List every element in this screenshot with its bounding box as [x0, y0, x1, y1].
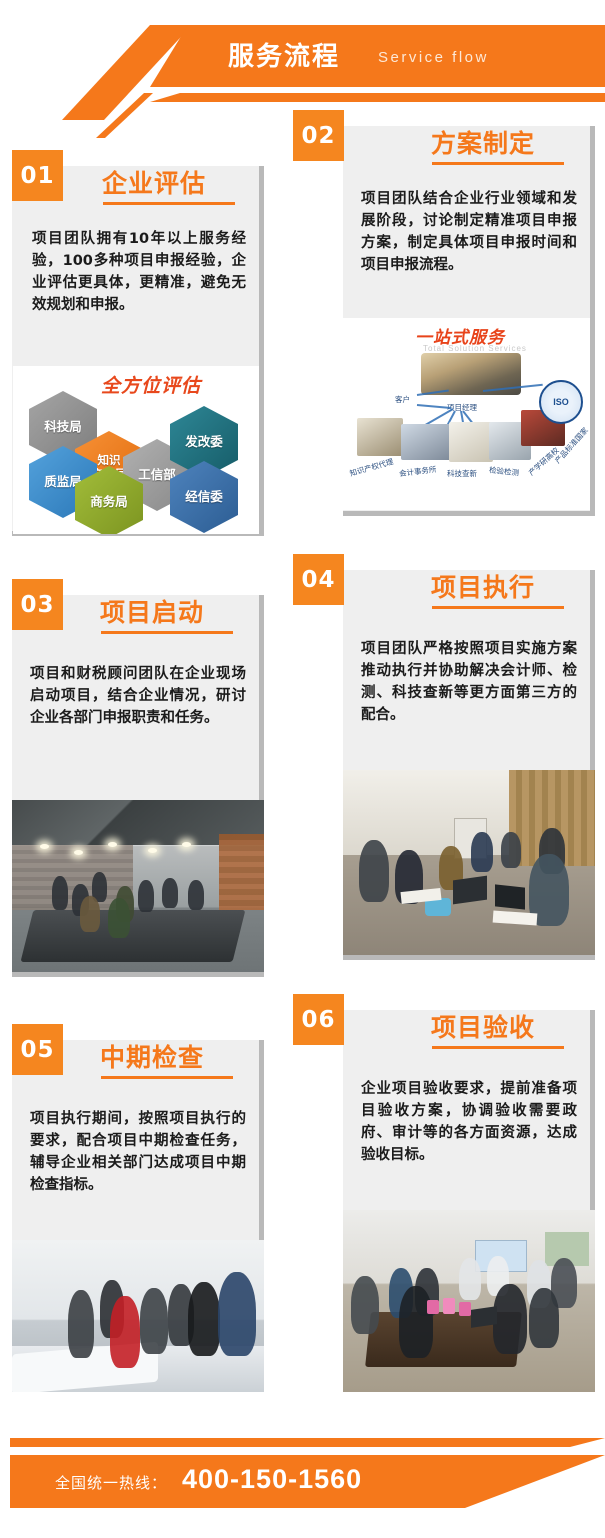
card-title-04: 项目执行	[431, 568, 535, 604]
card-number-badge-04: 04	[293, 554, 344, 605]
service-diagram-subtitle: Total Solution Services	[423, 344, 527, 353]
process-card-02[interactable]: 02 方案制定 项目团队结合企业行业领域和发展阶段，讨论制定精准项目申报方案，制…	[343, 126, 595, 516]
card-body-01: 项目团队拥有10年以上服务经验，100多种项目申报经验，企业评估更具体，更精准，…	[32, 228, 246, 316]
process-card-06[interactable]: 06 项目验收 企业项目验收要求，提前准备项目验收方案，协调验收需要政府、审计等…	[343, 1010, 595, 1392]
card-number-badge-01: 01	[12, 150, 63, 201]
process-card-01[interactable]: 01 企业评估 项目团队拥有10年以上服务经验，100多种项目申报经验，企业评估…	[12, 166, 264, 536]
card-title-rule	[432, 162, 564, 165]
service-node-label-0: 知识产权代理	[348, 456, 394, 479]
service-node-label-2: 科技查新	[447, 468, 477, 479]
service-node-label-1: 会计事务所	[398, 464, 437, 479]
card-number-badge-05: 05	[12, 1024, 63, 1075]
card-title-rule	[432, 1046, 564, 1049]
footer-rule	[10, 1438, 605, 1447]
service-thumb-search	[449, 422, 493, 462]
service-thumb-acct	[401, 424, 451, 460]
assessment-hex-diagram: 全方位评估 科技局 知识产权局 质监局 工信部 商务局 发改委 经信委	[13, 366, 259, 534]
service-iso-seal: ISO	[539, 380, 583, 424]
card-body-05: 项目执行期间，按照项目执行的要求，配合项目中期检查任务，辅导企业相关部门达成项目…	[30, 1108, 246, 1196]
process-card-03[interactable]: 03 项目启动 项目和财税顾问团队在企业现场启动项目，结合企业情况，研讨企业各部…	[12, 595, 264, 977]
card-title-rule	[101, 1076, 233, 1079]
process-card-05[interactable]: 05 中期检查 项目执行期间，按照项目执行的要求，配合项目中期检查任务，辅导企业…	[12, 1040, 264, 1392]
service-node-label-3: 检验检测	[489, 464, 520, 478]
card-title-rule	[101, 631, 233, 634]
card-number-badge-02: 02	[293, 110, 344, 161]
card-title-02: 方案制定	[431, 124, 535, 160]
page-subtitle: Service flow	[378, 46, 489, 70]
card-title-05: 中期检查	[100, 1038, 204, 1074]
service-label-client: 客户	[395, 394, 410, 405]
photo-lobby-tour	[12, 1240, 264, 1392]
card-title-06: 项目验收	[431, 1008, 535, 1044]
process-card-04[interactable]: 04 项目执行 项目团队严格按照项目实施方案推动执行并协助解决会计师、检测、科技…	[343, 570, 595, 960]
photo-conference-hall	[343, 1210, 595, 1392]
hex-diagram-title: 全方位评估	[101, 371, 201, 398]
header-rule	[150, 93, 605, 102]
card-number-badge-06: 06	[293, 994, 344, 1045]
card-title-rule	[432, 606, 564, 609]
card-number-badge-03: 03	[12, 579, 63, 630]
hotline-label: 全国统一热线：	[55, 1472, 167, 1493]
one-stop-service-diagram: 一站式服务 Total Solution Services 客户 项目经理 IS…	[343, 318, 590, 510]
service-arrow-2	[417, 404, 451, 409]
card-title-rule	[103, 202, 235, 205]
card-body-06: 企业项目验收要求，提前准备项目验收方案，协调验收需要政府、审计等的各方面资源，达…	[361, 1078, 577, 1166]
photo-office-work	[343, 770, 595, 955]
photo-meeting-room	[12, 800, 264, 972]
service-thumb-ip	[357, 418, 403, 456]
card-body-03: 项目和财税顾问团队在企业现场启动项目，结合企业情况，研讨企业各部门申报职责和任务…	[30, 663, 246, 729]
card-title-01: 企业评估	[102, 164, 206, 200]
page-title: 服务流程	[228, 36, 340, 76]
card-body-02: 项目团队结合企业行业领域和发展阶段，讨论制定精准项目申报方案，制定具体项目申报时…	[361, 188, 577, 276]
card-body-04: 项目团队严格按照项目实施方案推动执行并协助解决会计师、检测、科技查新等更方面第三…	[361, 638, 577, 726]
page-header: 服务流程 Service flow	[0, 0, 605, 118]
card-title-03: 项目启动	[100, 593, 204, 629]
hotline-number[interactable]: 400-150-1560	[182, 1464, 362, 1495]
